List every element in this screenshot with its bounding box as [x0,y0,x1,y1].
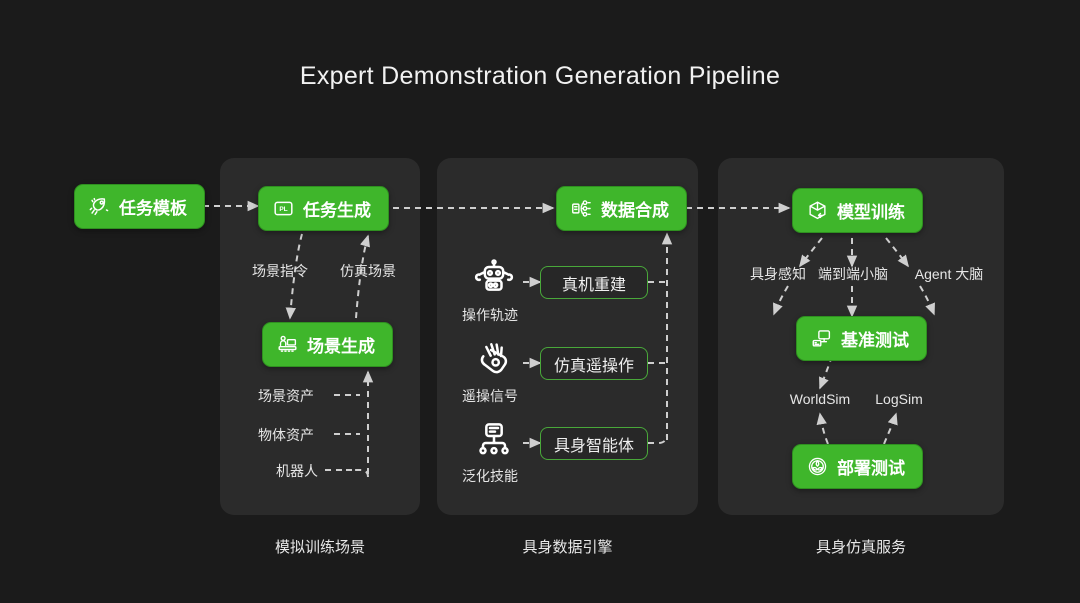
label-scene-assets: 场景资产 [258,386,314,406]
node-label: 数据合成 [601,196,669,221]
box-embodied-agent[interactable]: 具身智能体 [540,427,648,460]
node-task-generation[interactable]: PL 任务生成 [258,186,389,231]
node-label: 场景生成 [307,332,375,357]
box-real-machine-rebuild[interactable]: 真机重建 [540,266,648,299]
diagram-canvas: Expert Demonstration Generation Pipeline [0,0,1080,603]
box-label: 真机重建 [562,271,626,295]
box-label: 仿真遥操作 [554,352,634,376]
node-task-template[interactable]: 任务模板 [74,184,205,229]
node-deploy-test[interactable]: 部署测试 [792,444,923,489]
caption-panel-3: 具身仿真服务 [718,536,1004,557]
cube-arrow-icon [807,200,828,221]
label-logsim: LogSim [866,391,932,407]
label-embodied-perception: 具身感知 [738,264,818,284]
svg-text:PL: PL [279,206,287,213]
node-label: 部署测试 [837,454,905,479]
monitor-chart-icon [811,328,832,349]
node-scene-generation[interactable]: 场景生成 [262,322,393,367]
label-scene-instruction: 场景指令 [240,261,320,281]
node-data-synthesis[interactable]: 数据合成 [556,186,687,231]
label-worldsim: WorldSim [778,391,862,407]
glove-icon [474,340,514,380]
worker-conveyor-icon [277,334,298,355]
label-end-to-end-cerebellum: 端到端小脑 [810,264,896,284]
caption-panel-2: 具身数据引擎 [437,536,698,557]
caption-panel-1: 模拟训练场景 [220,536,420,557]
node-label: 任务模板 [119,194,187,219]
label-generalized-skill: 泛化技能 [462,466,518,486]
robot-icon [474,258,514,298]
node-model-training[interactable]: 模型训练 [792,188,923,233]
skill-network-icon [474,420,514,460]
data-nodes-icon [571,198,592,219]
rocket-icon [89,196,110,217]
prompt-window-icon: PL [273,198,294,219]
node-label: 任务生成 [303,196,371,221]
label-robot: 机器人 [276,461,318,481]
box-label: 具身智能体 [554,432,634,456]
page-title: Expert Demonstration Generation Pipeline [0,62,1080,91]
box-sim-teleoperation[interactable]: 仿真遥操作 [540,347,648,380]
label-agent-brain: Agent 大脑 [900,264,998,284]
label-sim-scene: 仿真场景 [328,261,408,281]
circular-badge-icon [807,456,828,477]
label-operation-trajectory: 操作轨迹 [462,305,518,325]
node-benchmark-test[interactable]: 基准测试 [796,316,927,361]
label-object-assets: 物体资产 [258,425,314,445]
node-label: 模型训练 [837,198,905,223]
label-teleop-signal: 遥操信号 [462,386,518,406]
node-label: 基准测试 [841,326,909,351]
